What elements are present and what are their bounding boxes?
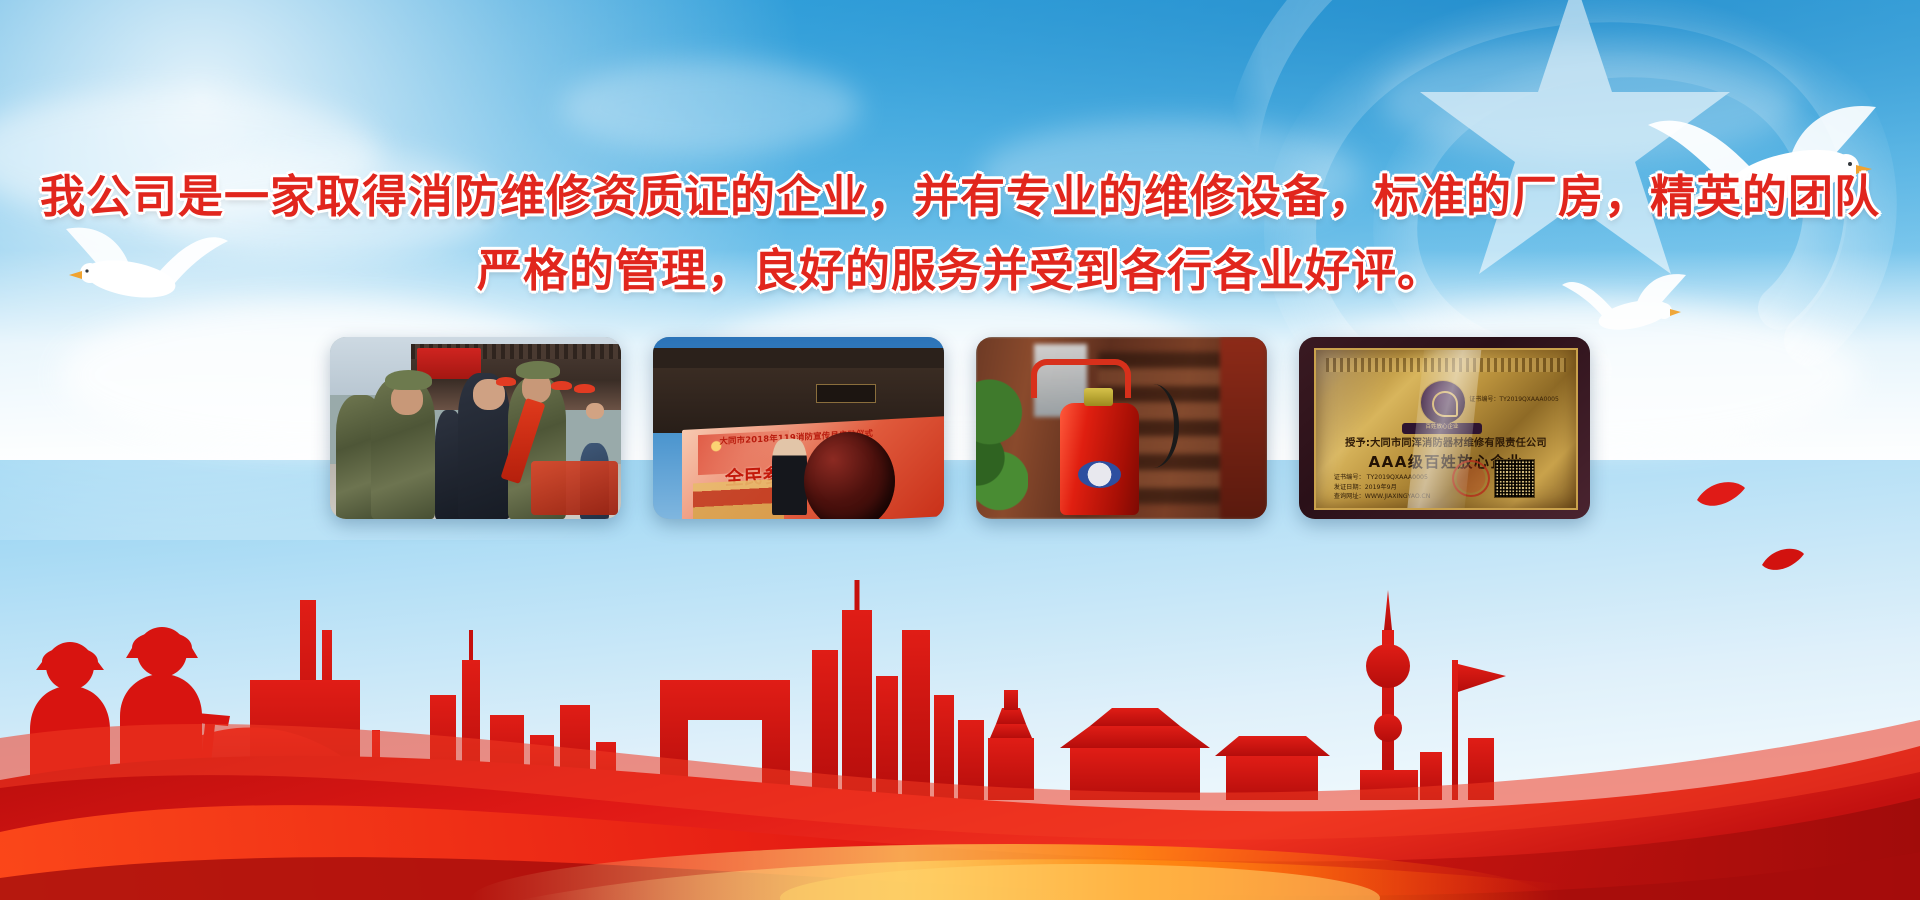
award-seal-text: 百姓放心企业 <box>1402 422 1483 430</box>
photo-ceremony-content: 大同市2018年119消防宣传月启动仪式 全民参与 防治火灾 <box>653 337 944 519</box>
award-red-stamp-icon <box>1452 460 1490 497</box>
cloud-shape <box>560 60 860 155</box>
award-cert-number: 证书编号：TY2019QXAAA0005 <box>1469 394 1558 403</box>
headline-line-2: 严格的管理，良好的服务并受到各行各业好评。 <box>0 234 1920 308</box>
promo-banner: 我公司是一家取得消防维修资质证的企业，并有专业的维修设备，标准的厂房，精英的团队… <box>0 0 1920 900</box>
award-grant-line: 授予:大同市同浑消防器材维修有限责任公司 <box>1326 434 1566 449</box>
photo-extinguisher[interactable] <box>976 337 1267 519</box>
award-meta-line: 发证日期：2019年9月 <box>1334 483 1431 493</box>
headline-line-1: 我公司是一家取得消防维修资质证的企业，并有专业的维修设备，标准的厂房，精英的团队 <box>0 160 1920 234</box>
photo-inspection[interactable] <box>330 337 621 519</box>
petal-icon <box>1760 545 1806 575</box>
award-meta: 证书编号： TY2019QXAAA0005 发证日期：2019年9月 查询网址：… <box>1334 473 1431 502</box>
photo-strip: 大同市2018年119消防宣传月启动仪式 全民参与 防治火灾 <box>0 337 1920 519</box>
photo-extinguisher-content <box>976 337 1267 519</box>
headline-block: 我公司是一家取得消防维修资质证的企业，并有专业的维修设备，标准的厂房，精英的团队… <box>0 160 1920 308</box>
award-qr-code-icon <box>1494 459 1535 499</box>
award-meta-line: 查询网址：WWW.JIAXINGYAO.CN <box>1334 492 1431 502</box>
photo-award-plaque-content: 百姓放心企业 证书编号：TY2019QXAAA0005 授予:大同市同浑消防器材… <box>1299 337 1590 519</box>
footer-graphic <box>0 480 1920 900</box>
photo-inspection-content <box>330 337 621 519</box>
award-seal-icon <box>1420 380 1466 425</box>
photo-award-plaque[interactable]: 百姓放心企业 证书编号：TY2019QXAAA0005 授予:大同市同浑消防器材… <box>1299 337 1590 519</box>
award-meta-line: 证书编号： TY2019QXAAA0005 <box>1334 473 1431 483</box>
photo-ceremony[interactable]: 大同市2018年119消防宣传月启动仪式 全民参与 防治火灾 <box>653 337 944 519</box>
